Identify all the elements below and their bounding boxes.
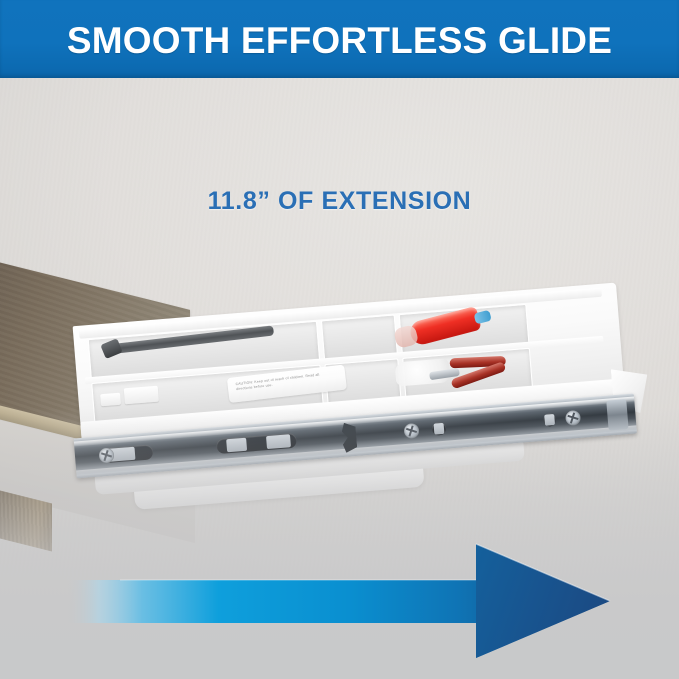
product-feature-image: CAUTION: Keep out of reach of children. … [0,0,679,679]
white-clip-large [124,386,159,405]
arrow-head [476,544,610,658]
arrow-svg [0,530,679,679]
glide-direction-arrow [0,530,679,679]
extension-callout-label: 11.8” OF EXTENSION [0,187,679,216]
white-clip-small [100,393,121,407]
photo-backdrop: CAUTION: Keep out of reach of children. … [0,78,679,679]
banner-title: SMOOTH EFFORTLESS GLIDE [67,22,612,59]
header-banner: SMOOTH EFFORTLESS GLIDE [0,0,679,78]
